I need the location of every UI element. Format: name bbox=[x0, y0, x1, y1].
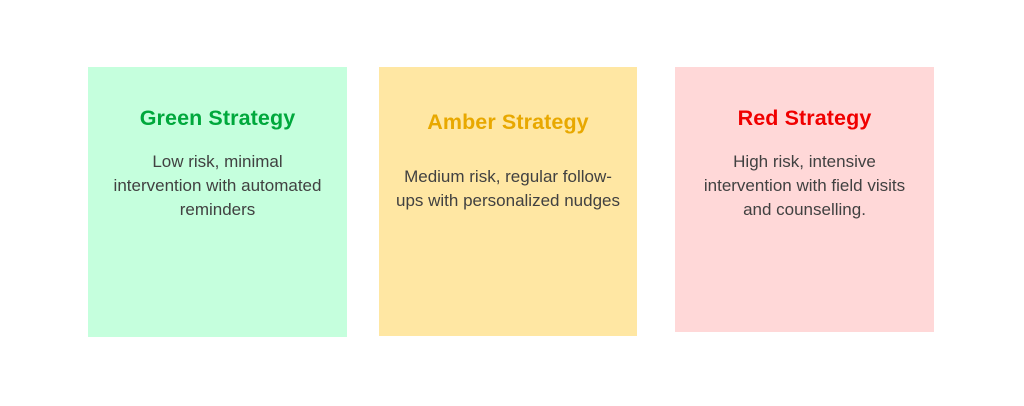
amber-strategy-description: Medium risk, regular follow-ups with per… bbox=[379, 165, 637, 213]
green-strategy-description: Low risk, minimal intervention with auto… bbox=[88, 150, 347, 223]
green-strategy-title: Green Strategy bbox=[88, 105, 347, 131]
red-strategy-title: Red Strategy bbox=[675, 105, 934, 131]
strategy-cards-canvas: Green Strategy Low risk, minimal interve… bbox=[0, 0, 1024, 406]
amber-strategy-card[interactable]: Amber Strategy Medium risk, regular foll… bbox=[379, 67, 637, 336]
red-strategy-description: High risk, intensive intervention with f… bbox=[675, 150, 934, 223]
red-strategy-card[interactable]: Red Strategy High risk, intensive interv… bbox=[675, 67, 934, 332]
green-strategy-card[interactable]: Green Strategy Low risk, minimal interve… bbox=[88, 67, 347, 337]
amber-strategy-title: Amber Strategy bbox=[379, 109, 637, 135]
